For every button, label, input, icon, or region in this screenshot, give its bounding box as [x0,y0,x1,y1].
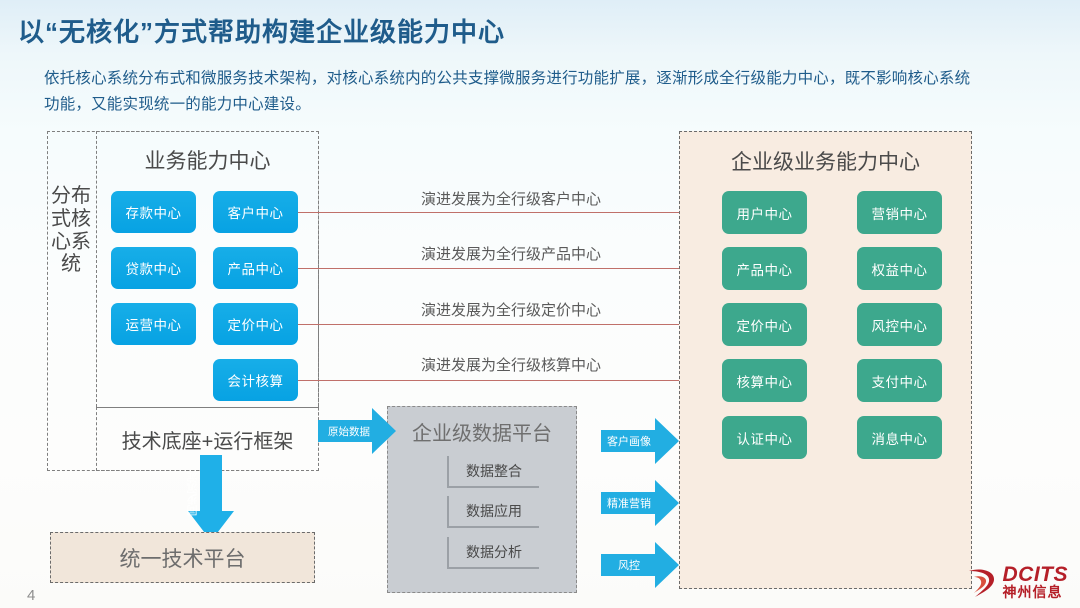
logo-brand-name: DCITS [1003,564,1069,585]
customer-profile-arrow-label: 客户画像 [601,418,657,464]
page-number: 4 [27,587,35,604]
green-box-user-center[interactable]: 用户中心 [722,191,807,234]
unified-tech-platform-box: 统一技术平台 [50,532,315,583]
page-subtitle: 依托核心系统分布式和微服务技术架构，对核心系统内的公共支撑微服务进行功能扩展，逐… [44,66,984,117]
blue-box-accounting[interactable]: 会计核算 [213,359,298,401]
green-box-authentication-center[interactable]: 认证中心 [722,416,807,459]
raw-data-arrow-label: 原始数据 [318,408,380,454]
green-box-marketing-center[interactable]: 营销中心 [857,191,942,234]
blue-box-pricing-center[interactable]: 定价中心 [213,303,298,345]
evolution-line-2 [298,268,723,269]
enterprise-capability-center-title: 企业级业务能力中心 [679,146,972,176]
evolution-label-3: 演进发展为全行级定价中心 [331,299,691,320]
blue-box-operation-center[interactable]: 运营中心 [111,303,196,345]
green-box-payment-center[interactable]: 支付中心 [857,359,942,402]
risk-control-arrow-label: 风控 [601,542,657,588]
evolution-label-1: 演进发展为全行级客户中心 [331,188,691,209]
dcits-logo-mark-icon [965,565,999,599]
green-box-risk-center[interactable]: 风控中心 [857,303,942,346]
slide-canvas: 以“无核化”方式帮助构建企业级能力中心 依托核心系统分布式和微服务技术架构，对核… [0,0,1080,608]
sync-precipitation-arrow-label: 同步沉淀 [188,472,234,516]
precision-marketing-arrow-label: 精准营销 [601,480,657,526]
evolution-line-1 [298,212,723,213]
logo-brand-sub: 神州信息 [1003,585,1069,599]
green-box-message-center[interactable]: 消息中心 [857,416,942,459]
evolution-label-4: 演进发展为全行级核算中心 [331,354,691,375]
green-box-product-center[interactable]: 产品中心 [722,247,807,290]
data-platform-item-analysis[interactable]: 数据分析 [447,537,539,569]
green-box-pricing-center[interactable]: 定价中心 [722,303,807,346]
distributed-core-label: 分布式核心系统 [47,185,95,276]
blue-box-product-center[interactable]: 产品中心 [213,247,298,289]
green-box-rights-center[interactable]: 权益中心 [857,247,942,290]
data-platform-item-application[interactable]: 数据应用 [447,496,539,528]
green-box-accounting-center[interactable]: 核算中心 [722,359,807,402]
evolution-line-3 [298,324,723,325]
logo-text-block: DCITS 神州信息 [1003,564,1069,599]
evolution-line-4 [298,380,723,381]
company-logo: DCITS 神州信息 [965,564,1069,599]
page-title: 以“无核化”方式帮助构建企业级能力中心 [18,12,505,49]
enterprise-data-platform-title: 企业级数据平台 [387,417,577,446]
data-platform-item-integration[interactable]: 数据整合 [447,456,539,488]
blue-box-loan-center[interactable]: 贷款中心 [111,247,196,289]
blue-box-customer-center[interactable]: 客户中心 [213,191,298,233]
business-capability-center-title: 业务能力中心 [96,145,319,175]
blue-box-deposit-center[interactable]: 存款中心 [111,191,196,233]
evolution-label-2: 演进发展为全行级产品中心 [331,243,691,264]
